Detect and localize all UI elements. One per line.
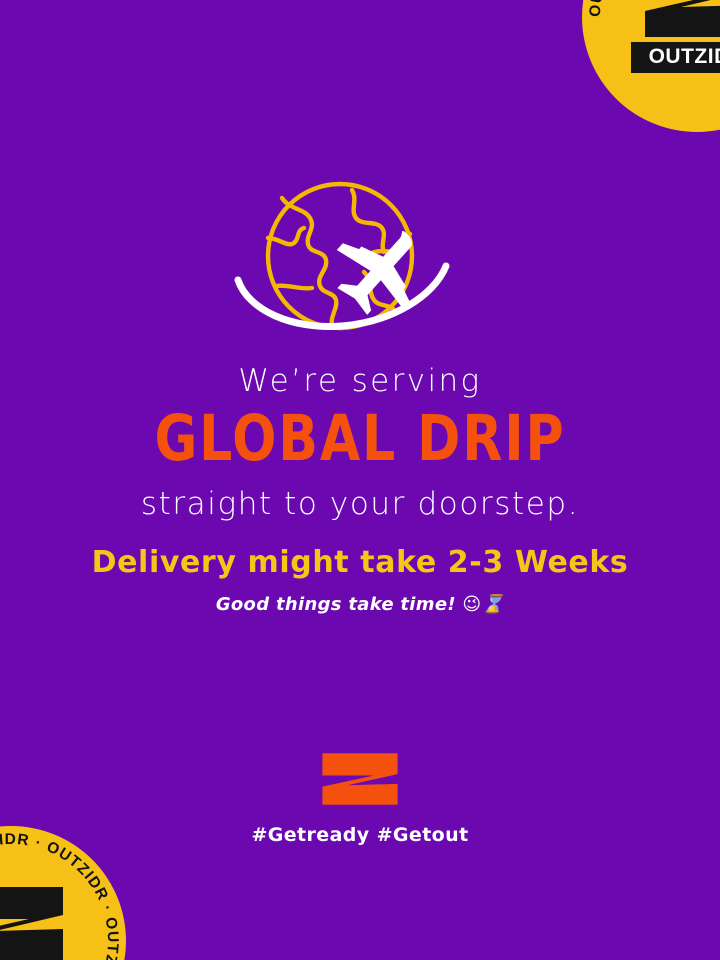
globe-with-airplane-icon	[230, 168, 490, 348]
badge-core-top-right: OUTZIDR	[631, 0, 720, 73]
badge-wordmark-top-right: OUTZIDR	[631, 42, 720, 73]
headline-block: We’re serving GLOBAL DRIP straight to yo…	[0, 364, 720, 521]
headline-title: GLOBAL DRIP	[29, 404, 691, 475]
delivery-tagline: Good things take time! 😉⌛	[0, 594, 720, 615]
promo-poster: OUTZIDR · OUTZIDR · OUTZIDR · OUTZIDR · …	[0, 0, 720, 960]
headline-kicker: We’re serving	[0, 364, 720, 398]
badge-brand-label: OUTZIDR	[649, 45, 720, 68]
outzidr-z-mark-icon	[0, 885, 67, 960]
delivery-notice-block: Delivery might take 2-3 Weeks Good thing…	[0, 546, 720, 615]
headline-subtitle: straight to your doorstep.	[0, 487, 720, 521]
delivery-time-label: Delivery might take 2-3 Weeks	[0, 546, 720, 581]
brand-badge-bottom-left: OUTZIDR · OUTZIDR · OUTZIDR · OUTZIDR · …	[0, 826, 126, 960]
outzidr-z-logo-icon	[321, 748, 399, 810]
badge-core-bottom-left: OUTZIDR	[0, 885, 77, 960]
footer-block: #Getready #Getout	[0, 748, 720, 846]
brand-badge-top-right: OUTZIDR · OUTZIDR · OUTZIDR · OUTZIDR · …	[582, 0, 720, 132]
footer-hashtags: #Getready #Getout	[251, 824, 468, 846]
outzidr-z-mark-icon	[641, 0, 720, 39]
